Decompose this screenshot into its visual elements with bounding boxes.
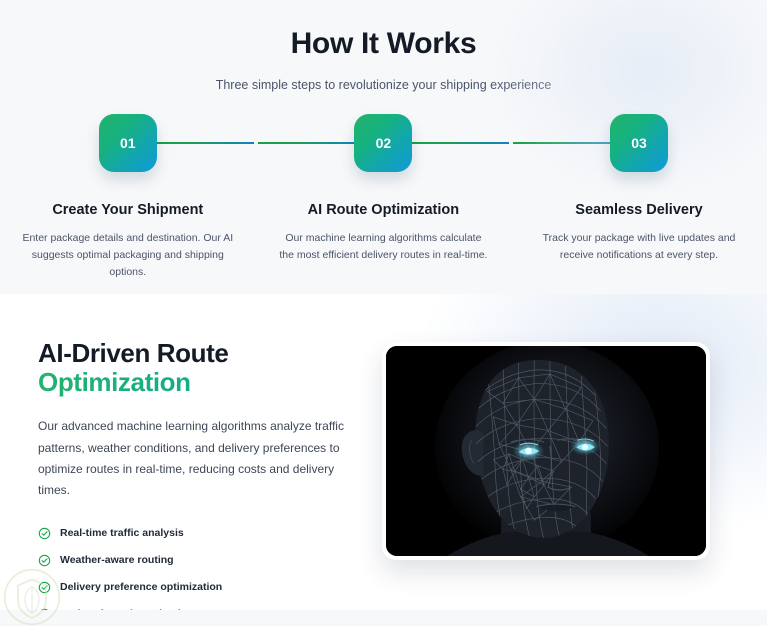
step-connector-left-2 — [258, 142, 358, 144]
step-description-3: Track your package with live updates and… — [533, 230, 745, 264]
check-circle-icon — [38, 554, 51, 567]
step-badge-row-1: 01 — [0, 112, 256, 174]
step-item-1[interactable]: 01 Create Your Shipment Enter package de… — [0, 112, 256, 281]
feature-label-1: Real-time traffic analysis — [60, 527, 184, 539]
ai-section-media-column — [382, 339, 710, 610]
how-it-works-section: How It Works Three simple steps to revol… — [0, 0, 767, 294]
steps-list: 01 Create Your Shipment Enter package de… — [0, 112, 767, 281]
check-circle-icon — [38, 581, 51, 594]
step-badge-row-3: 03 — [511, 112, 767, 174]
page-subtitle: Three simple steps to revolutionize your… — [0, 78, 767, 92]
ai-section-heading: AI-Driven Route Optimization — [38, 339, 368, 397]
step-title-3: Seamless Delivery — [575, 202, 702, 218]
step-description-1: Enter package details and destination. O… — [22, 230, 234, 281]
step-number-badge-1: 01 — [99, 114, 157, 172]
page-title: How It Works — [0, 27, 767, 61]
ai-heading-line-2: Optimization — [38, 368, 368, 397]
step-number-badge-3: 03 — [610, 114, 668, 172]
ai-section-text-column: AI-Driven Route Optimization Our advance… — [38, 339, 368, 610]
ai-wireframe-head-image — [386, 346, 706, 556]
step-title-1: Create Your Shipment — [52, 202, 203, 218]
step-item-2[interactable]: 02 AI Route Optimization Our machine lea… — [256, 112, 512, 264]
media-frame[interactable] — [382, 342, 710, 560]
feature-label-2: Weather-aware routing — [60, 554, 174, 566]
feature-item-1: Real-time traffic analysis — [38, 527, 368, 540]
feature-item-2: Weather-aware routing — [38, 554, 368, 567]
feature-item-3: Delivery preference optimization — [38, 581, 368, 594]
footer-band — [0, 610, 767, 626]
step-connector-left-3 — [513, 142, 613, 144]
step-connector-right-1 — [154, 142, 254, 144]
step-description-2: Our machine learning algorithms calculat… — [277, 230, 489, 264]
ai-route-optimization-section: AI-Driven Route Optimization Our advance… — [0, 294, 767, 610]
step-number-badge-2: 02 — [354, 114, 412, 172]
step-connector-right-2 — [409, 142, 509, 144]
step-badge-row-2: 02 — [256, 112, 512, 174]
feature-list: Real-time traffic analysis Weather-aware… — [38, 527, 368, 610]
ai-heading-line-1: AI-Driven Route — [38, 338, 228, 368]
step-item-3[interactable]: 03 Seamless Delivery Track your package … — [511, 112, 767, 264]
step-title-2: AI Route Optimization — [308, 202, 459, 218]
check-circle-icon — [38, 527, 51, 540]
ai-section-description: Our advanced machine learning algorithms… — [38, 416, 356, 501]
feature-label-3: Delivery preference optimization — [60, 581, 222, 593]
